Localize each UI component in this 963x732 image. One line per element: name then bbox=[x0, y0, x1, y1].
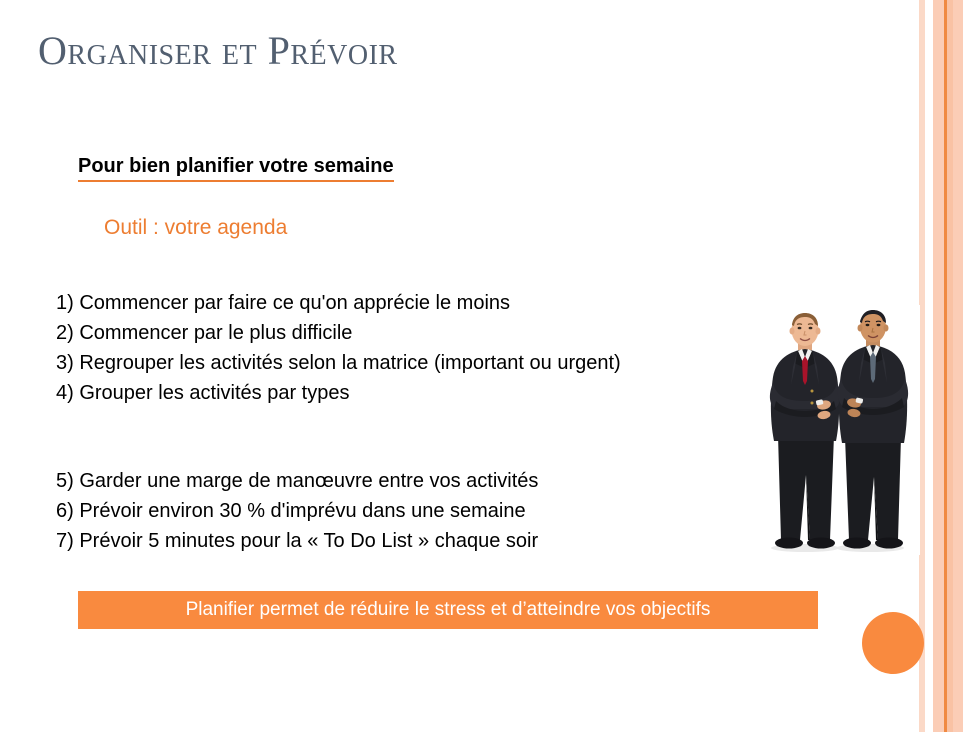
list-item: 7) Prévoir 5 minutes pour la « To Do Lis… bbox=[56, 526, 538, 556]
tool-subtitle: Outil : votre agenda bbox=[104, 216, 287, 240]
section-headline: Pour bien planifier votre semaine bbox=[78, 155, 394, 182]
list-item: 4) Grouper les activités par types bbox=[56, 378, 621, 408]
list-item: 5) Garder une marge de manœuvre entre vo… bbox=[56, 466, 538, 496]
orange-circle-accent bbox=[862, 612, 924, 674]
highlight-banner: Planifier permet de réduire le stress et… bbox=[78, 591, 818, 629]
page-title: Organiser et Prévoir bbox=[38, 28, 398, 74]
list-item: 6) Prévoir environ 30 % d'imprévu dans u… bbox=[56, 496, 538, 526]
numbered-list-group-b: 5) Garder une marge de manœuvre entre vo… bbox=[56, 466, 538, 556]
list-item: 1) Commencer par faire ce qu'on apprécie… bbox=[56, 288, 621, 318]
decor-stripe-peach-outer bbox=[953, 0, 963, 732]
banner-text: Planifier permet de réduire le stress et… bbox=[186, 599, 711, 621]
two-businessmen-photo bbox=[750, 305, 920, 555]
headline-container: Pour bien planifier votre semaine bbox=[78, 155, 394, 182]
list-item: 2) Commencer par le plus difficile bbox=[56, 318, 621, 348]
slide-canvas: Organiser et Prévoir Pour bien planifier… bbox=[0, 0, 963, 732]
list-item: 3) Regrouper les activités selon la matr… bbox=[56, 348, 621, 378]
decor-stripe-peach bbox=[933, 0, 944, 732]
numbered-list-group-a: 1) Commencer par faire ce qu'on apprécie… bbox=[56, 288, 621, 408]
